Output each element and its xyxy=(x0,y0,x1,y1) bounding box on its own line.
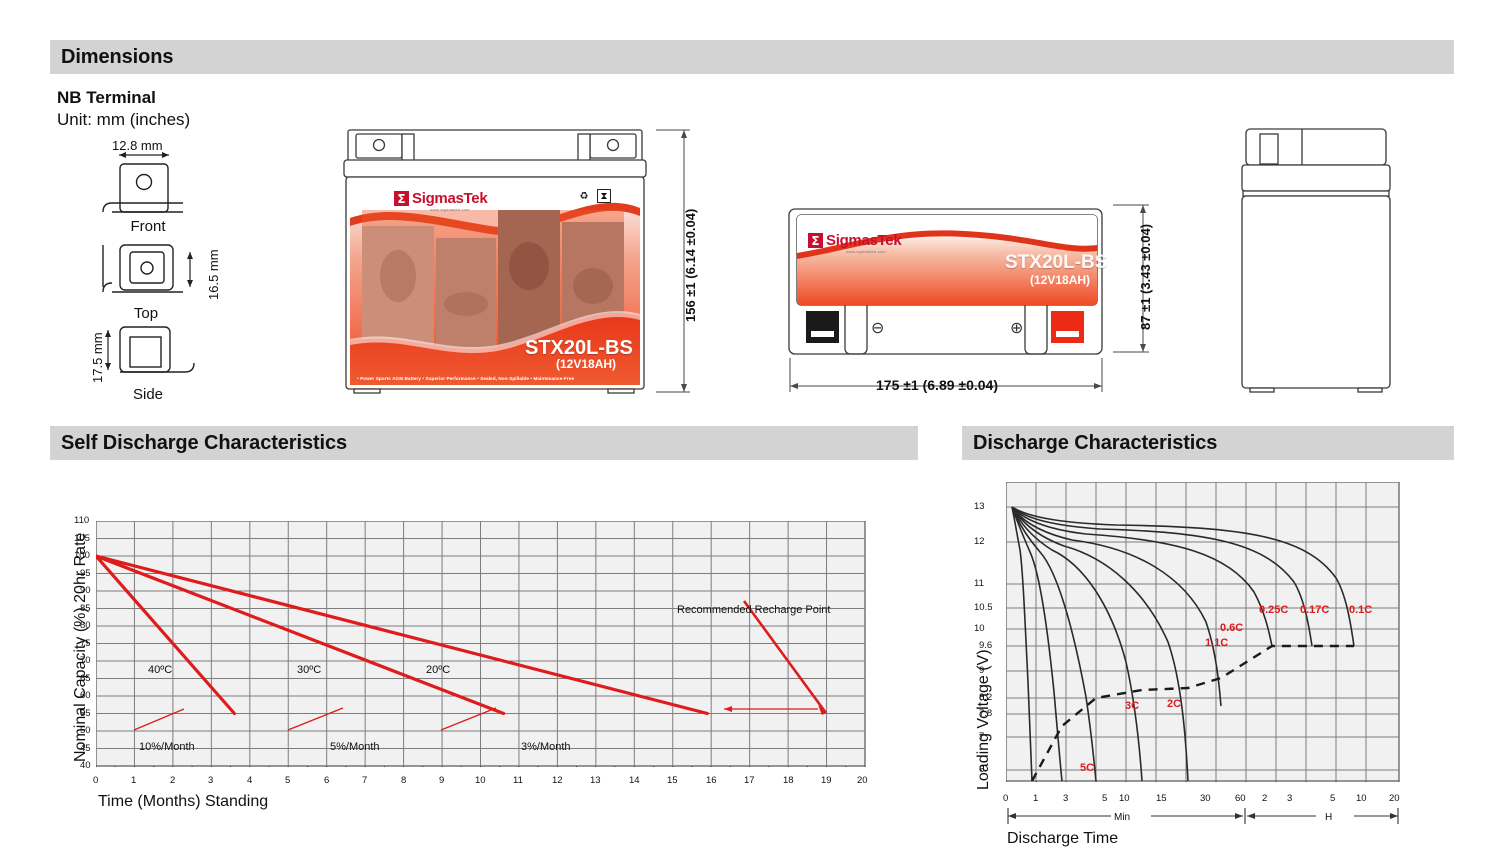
x-tick: 1 xyxy=(1033,793,1038,804)
sigma-logo-icon-side: Σ xyxy=(808,233,823,248)
curve-label-0-6c: 0.6C xyxy=(1220,622,1243,634)
y-tick: 110 xyxy=(74,515,89,526)
discharge-chart xyxy=(1006,482,1400,782)
annotation-rate-10: 10%/Month xyxy=(139,741,195,753)
x-tick: 18 xyxy=(783,775,794,786)
y-tick: 75 xyxy=(80,638,91,649)
brand-name-front: SigmasTek xyxy=(412,190,487,207)
x-tick: 9 xyxy=(439,775,444,786)
x-tick: 14 xyxy=(629,775,640,786)
y-tick: 7.8 xyxy=(979,708,992,719)
y-tick: 100 xyxy=(74,550,90,561)
curve-label-0-25c: 0.25C xyxy=(1259,604,1288,616)
x-tick: 0 xyxy=(1003,793,1008,804)
waste-bin-icon: ⧗ xyxy=(597,189,611,203)
y-tick: 80 xyxy=(80,620,91,631)
section-header-dimensions: Dimensions xyxy=(50,40,1454,74)
x-tick: 3 xyxy=(1287,793,1292,804)
terminal-drawings xyxy=(50,132,310,407)
y-tick: 70 xyxy=(80,655,91,666)
discharge-x-axis-title: Discharge Time xyxy=(1007,830,1118,848)
y-tick: 7 xyxy=(979,731,984,742)
brand-url-side: www.sigmastek.com xyxy=(846,249,886,254)
battery-top-view xyxy=(1232,124,1412,399)
x-tick: 19 xyxy=(821,775,832,786)
x-tick: 15 xyxy=(1156,793,1167,804)
x-tick: 20 xyxy=(857,775,868,786)
x-tick: 10 xyxy=(1119,793,1130,804)
x-tick: 8 xyxy=(401,775,406,786)
battery-top-svg xyxy=(1232,124,1412,399)
curve-label-1-1c: 1.1C xyxy=(1205,637,1228,649)
y-tick: 60 xyxy=(80,690,91,701)
unit-label-min: Min xyxy=(1114,812,1130,823)
nb-terminal-title: NB Terminal xyxy=(57,88,156,108)
y-tick: 45 xyxy=(80,743,91,754)
curve-label-5c: 5C xyxy=(1080,762,1094,774)
dimension-depth-label: 87 ±1 (3.43 ±0.04) xyxy=(1138,224,1153,330)
x-tick: 1 xyxy=(131,775,136,786)
annotation-temp-20c: 20ºC xyxy=(426,664,450,676)
section-header-self-discharge: Self Discharge Characteristics xyxy=(50,426,918,460)
y-tick: 13 xyxy=(974,501,985,512)
x-tick: 7 xyxy=(362,775,367,786)
y-tick: 12 xyxy=(974,536,985,547)
x-tick: 0 xyxy=(93,775,98,786)
x-tick: 5 xyxy=(285,775,290,786)
section-title-self-discharge: Self Discharge Characteristics xyxy=(61,432,347,455)
curve-label-2c: 2C xyxy=(1167,698,1181,710)
model-name-side: STX20L-BS xyxy=(1005,252,1107,274)
terminal-view-top-label: Top xyxy=(118,305,174,322)
x-tick: 3 xyxy=(1063,793,1068,804)
y-tick: 8.2 xyxy=(979,692,992,703)
x-tick: 10 xyxy=(1356,793,1367,804)
brand-url-front: www.sigmastek.com xyxy=(430,207,470,212)
recycle-icon: ♻ xyxy=(577,189,591,203)
self-discharge-x-axis-title: Time (Months) Standing xyxy=(98,793,268,811)
terminal-view-front-label: Front xyxy=(120,218,176,235)
y-tick: 105 xyxy=(74,533,90,544)
y-tick: 40 xyxy=(80,760,91,771)
curve-label-0-1c: 0.1C xyxy=(1349,604,1372,616)
terminal-view-side-label: Side xyxy=(120,386,176,403)
datasheet-page: Dimensions NB Terminal Unit: mm (inches) xyxy=(0,0,1500,861)
self-discharge-chart xyxy=(96,521,866,767)
annotation-temp-30c: 30ºC xyxy=(297,664,321,676)
sigma-logo-icon: Σ xyxy=(394,191,409,206)
x-tick: 60 xyxy=(1235,793,1246,804)
curve-label-0-17c: 0.17C xyxy=(1300,604,1329,616)
y-tick: 85 xyxy=(80,603,91,614)
nb-unit-label: Unit: mm (inches) xyxy=(57,110,190,130)
y-tick: 90 xyxy=(80,585,91,596)
y-tick: 10 xyxy=(974,623,985,634)
model-capacity-front: (12V18AH) xyxy=(556,357,616,371)
brand-lockup-side: Σ SigmasTek xyxy=(808,232,901,249)
curve-label-3c: 3C xyxy=(1125,700,1139,712)
y-tick: 50 xyxy=(80,725,91,736)
x-tick: 10 xyxy=(475,775,486,786)
y-tick: 55 xyxy=(80,708,91,719)
svg-text:⊕: ⊕ xyxy=(1010,318,1023,337)
x-tick: 6 xyxy=(324,775,329,786)
x-tick: 15 xyxy=(667,775,678,786)
unit-label-hour: H xyxy=(1325,812,1332,823)
x-tick: 20 xyxy=(1389,793,1400,804)
model-capacity-side: (12V18AH) xyxy=(1030,273,1090,287)
x-tick: 11 xyxy=(513,775,523,786)
x-tick: 5 xyxy=(1102,793,1107,804)
y-tick: 95 xyxy=(80,568,91,579)
y-tick: 10.5 xyxy=(974,602,993,613)
terminal-width-label: 12.8 mm xyxy=(112,138,163,153)
section-header-discharge: Discharge Characteristics xyxy=(962,426,1454,460)
terminal-svg xyxy=(50,132,310,407)
brand-lockup-front: Σ SigmasTek xyxy=(394,190,487,207)
section-title-discharge: Discharge Characteristics xyxy=(973,432,1217,455)
x-tick: 2 xyxy=(170,775,175,786)
annotation-rate-5: 5%/Month xyxy=(330,741,380,753)
x-tick: 13 xyxy=(590,775,601,786)
brand-name-side: SigmasTek xyxy=(826,232,901,249)
terminal-depth-label: 16.5 mm xyxy=(206,249,221,300)
x-tick: 17 xyxy=(744,775,755,786)
x-tick: 30 xyxy=(1200,793,1211,804)
discharge-units-bar xyxy=(1006,806,1402,828)
annotation-temp-40c: 40ºC xyxy=(148,664,172,676)
y-tick: 65 xyxy=(80,673,91,684)
x-tick: 16 xyxy=(706,775,717,786)
x-tick: 2 xyxy=(1262,793,1267,804)
svg-text:⊖: ⊖ xyxy=(871,318,884,337)
y-tick: 9 xyxy=(979,665,984,676)
y-tick: 9.6 xyxy=(979,640,992,651)
dimension-length-label: 175 ±1 (6.89 ±0.04) xyxy=(876,377,998,393)
discharge-plot xyxy=(1006,482,1400,782)
x-tick: 12 xyxy=(552,775,563,786)
x-tick: 5 xyxy=(1330,793,1335,804)
section-title-dimensions: Dimensions xyxy=(61,46,173,69)
x-tick: 3 xyxy=(208,775,213,786)
annotation-recharge-point: Recommended Recharge Point xyxy=(677,604,830,616)
y-tick: 11 xyxy=(974,578,984,589)
annotation-rate-3: 3%/Month xyxy=(521,741,571,753)
tagline-front: • Power Sports AGM Battery • Superior Pe… xyxy=(357,376,574,381)
x-tick: 4 xyxy=(247,775,252,786)
terminal-height-label: 17.5 mm xyxy=(90,332,105,383)
self-discharge-plot xyxy=(96,521,866,767)
y-tick: 6 xyxy=(979,764,984,775)
dimension-height-label: 156 ±1 (6.14 ±0.04) xyxy=(683,209,698,322)
